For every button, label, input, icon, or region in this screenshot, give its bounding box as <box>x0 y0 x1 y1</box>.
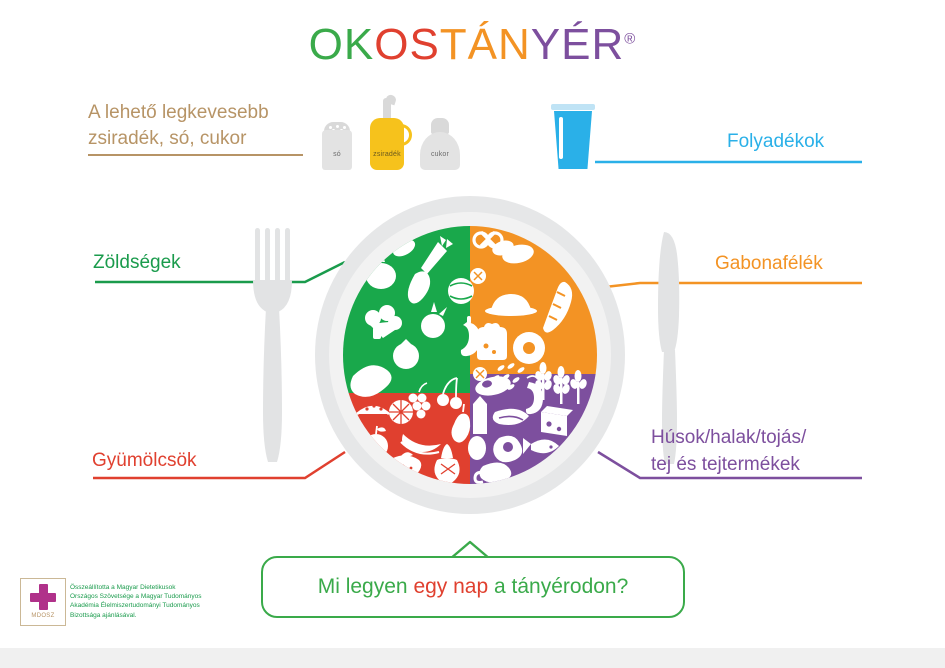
cross-bar-vertical <box>39 584 48 610</box>
cheese-icon <box>541 406 573 436</box>
label-gyumolcsok: Gyümölcsök <box>92 450 197 472</box>
credit-line-4: Bizottsága ajánlásával. <box>70 611 250 620</box>
label-husok-line-2: tej és tejtermékek <box>651 451 806 478</box>
label-folyadekok: Folyadékok <box>727 131 824 153</box>
question-text-highlight: egy nap <box>413 575 488 598</box>
steak-icon <box>474 373 513 398</box>
logo-name: MDOSZ <box>20 613 66 619</box>
protein-food-icons <box>343 226 597 484</box>
mdosz-logo: MDOSZ <box>20 578 66 626</box>
milk-carton-icon <box>473 396 487 434</box>
chicken-drumstick-icon <box>475 462 511 482</box>
label-husok-halak-tojas: Húsok/halak/tojás/ tej és tejtermékek <box>651 424 806 478</box>
bottom-strip <box>0 648 945 668</box>
label-gabonafelek: Gabonafélék <box>715 253 823 275</box>
shrimp-icon <box>526 376 543 414</box>
credit-line-1: Összeállította a Magyar Dietetikusok <box>70 583 250 592</box>
cross-icon <box>30 584 56 610</box>
credit-line-3: Akadémia Élelmiszertudományi Tudományos <box>70 601 250 610</box>
fish-fillet-icon <box>493 409 529 425</box>
label-husok-line-1: Húsok/halak/tojás/ <box>651 424 806 451</box>
question-text-after: a tányérodon? <box>488 575 628 598</box>
question-speech-bubble: Mi legyen egy nap a tányérodon? <box>261 556 685 618</box>
fork-icon <box>247 228 301 464</box>
credit-line-2: Országos Szövetsége a Magyar Tudományos <box>70 592 250 601</box>
plate-food-groups <box>343 226 597 484</box>
question-text-before: Mi legyen <box>318 575 414 598</box>
fried-egg-icon <box>493 436 522 463</box>
fish-icon <box>523 438 559 454</box>
question-text: Mi legyen egy nap a tányérodon? <box>318 575 629 599</box>
infographic-canvas: OKOSTÁNYÉR® A lehető legkevesebb zsiradé… <box>0 0 945 668</box>
connector-gabonafelek <box>596 283 862 288</box>
food-plate-diagram <box>315 196 625 514</box>
label-zoldsegek: Zöldségek <box>93 252 181 274</box>
credit-text: Összeállította a Magyar Dietetikusok Ors… <box>70 583 250 620</box>
egg-icon <box>468 436 486 460</box>
